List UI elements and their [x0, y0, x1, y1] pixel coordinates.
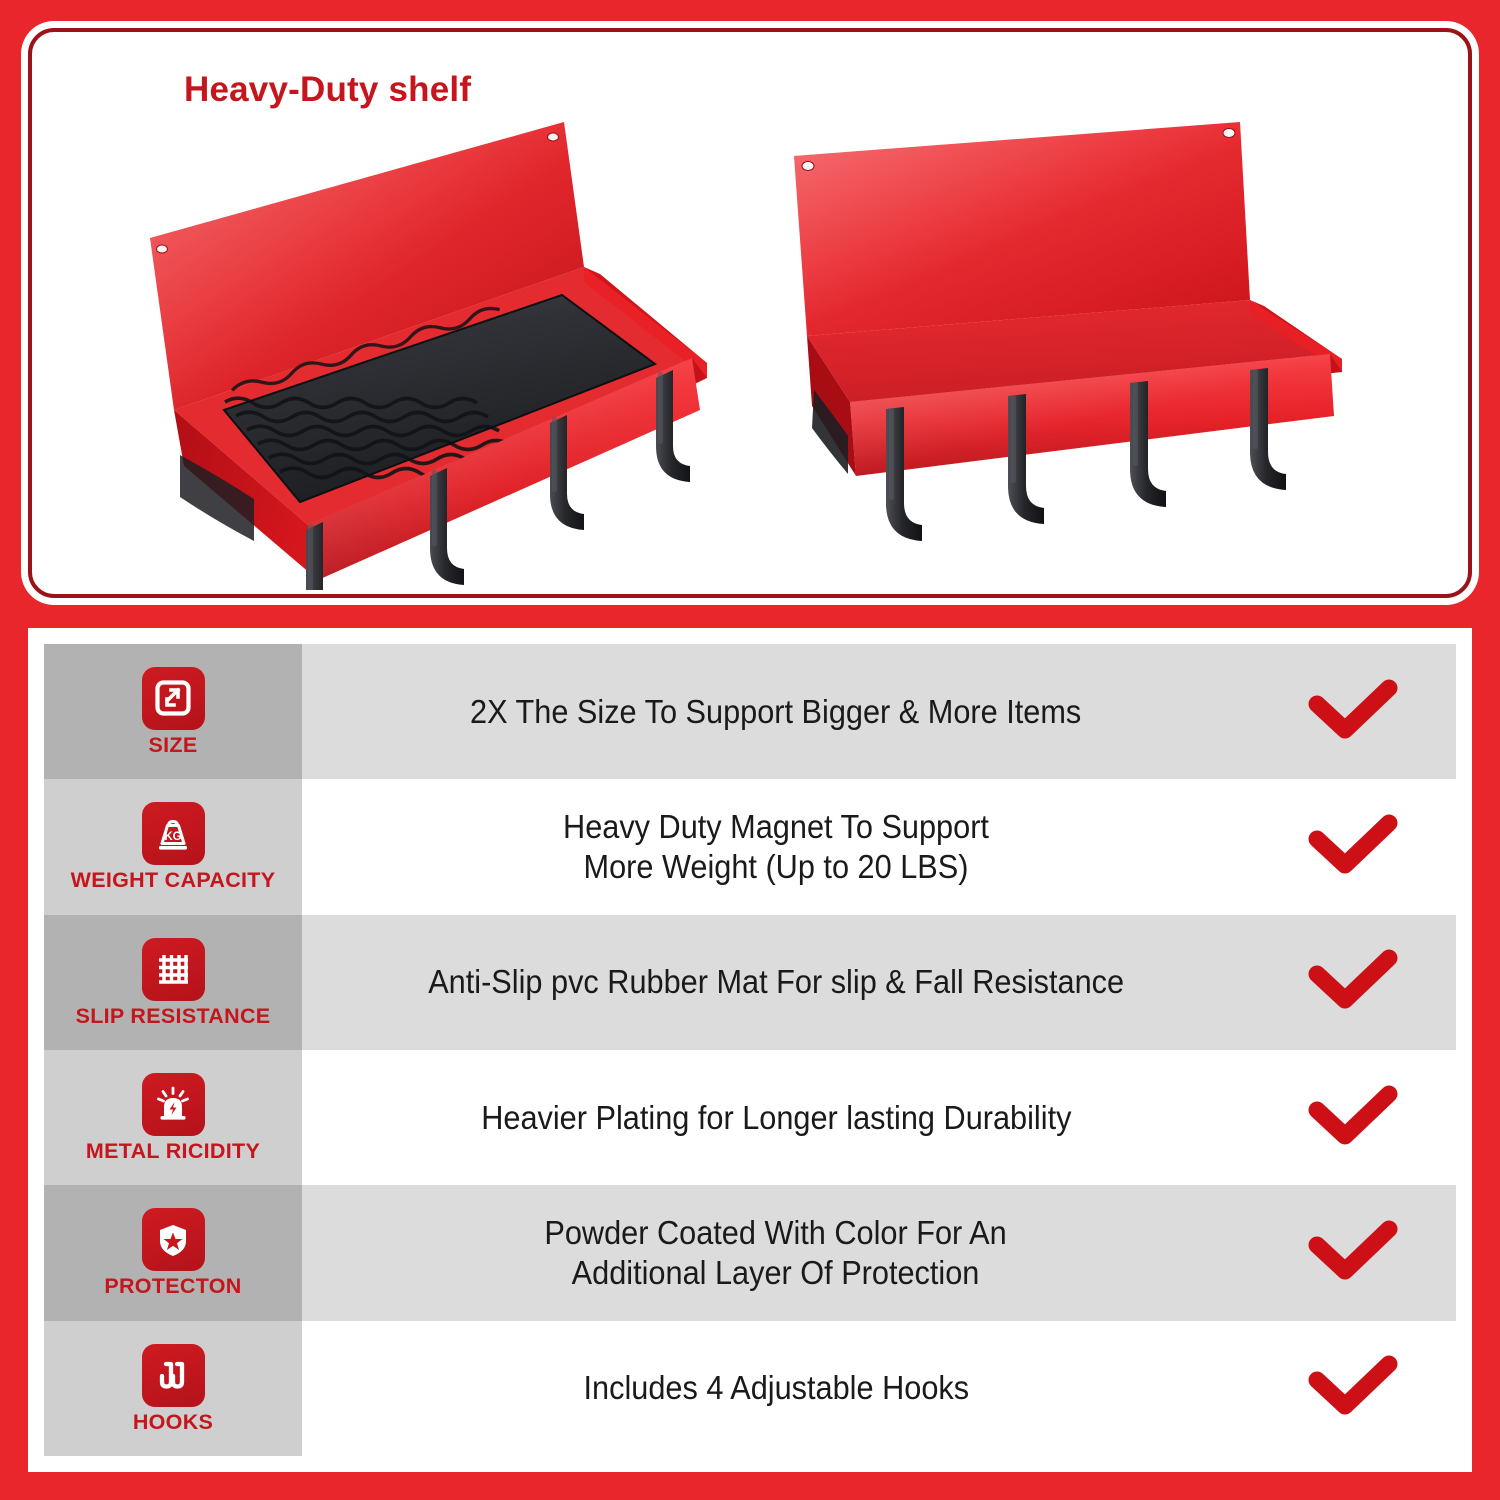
- table-row: SIZE 2X The Size To Support Bigger & Mor…: [44, 644, 1456, 779]
- feature-description-cell: 2X The Size To Support Bigger & More Ite…: [302, 644, 1250, 779]
- feature-icon-cell-slip-resistance: SLIP RESISTANCE: [44, 915, 302, 1050]
- table-row: SLIP RESISTANCE Anti-Slip pvc Rubber Mat…: [44, 915, 1456, 1050]
- table-row: HOOKS Includes 4 Adjustable Hooks: [44, 1321, 1456, 1456]
- feature-description-cell: Anti-Slip pvc Rubber Mat For slip & Fall…: [302, 915, 1250, 1050]
- hooks-icon: [142, 1344, 205, 1407]
- check-icon: [1305, 676, 1401, 748]
- shield-star-icon: [142, 1208, 205, 1271]
- feature-description: Anti-Slip pvc Rubber Mat For slip & Fall…: [428, 962, 1124, 1002]
- feature-table-panel: SIZE 2X The Size To Support Bigger & Mor…: [28, 628, 1472, 1472]
- check-icon: [1305, 1082, 1401, 1154]
- feature-check-cell: [1250, 779, 1456, 914]
- feature-description: 2X The Size To Support Bigger & More Ite…: [470, 692, 1081, 732]
- feature-description-cell: Heavy Duty Magnet To Support More Weight…: [302, 779, 1250, 914]
- feature-check-cell: [1250, 1185, 1456, 1320]
- feature-icon-label: METAL RICIDITY: [86, 1140, 260, 1163]
- check-icon: [1305, 1352, 1401, 1424]
- page-title: Heavy-Duty shelf: [184, 70, 471, 110]
- check-icon: [1305, 946, 1401, 1018]
- siren-bolt-icon: [142, 1073, 205, 1136]
- product-photo-panel: Heavy-Duty shelf: [28, 28, 1472, 598]
- feature-description-cell: Heavier Plating for Longer lasting Durab…: [302, 1050, 1250, 1185]
- feature-check-cell: [1250, 1321, 1456, 1456]
- feature-icon-cell-size: SIZE: [44, 644, 302, 779]
- feature-description: Heavier Plating for Longer lasting Durab…: [481, 1098, 1071, 1138]
- feature-description-cell: Includes 4 Adjustable Hooks: [302, 1321, 1250, 1456]
- table-row: METAL RICIDITY Heavier Plating for Longe…: [44, 1050, 1456, 1185]
- feature-description: Powder Coated With Color For An Addition…: [545, 1213, 1007, 1294]
- feature-icon-label: SIZE: [149, 734, 198, 757]
- feature-check-cell: [1250, 1050, 1456, 1185]
- shelf-front-empty-image: [772, 104, 1372, 544]
- feature-icon-label: SLIP RESISTANCE: [76, 1005, 271, 1028]
- feature-table: SIZE 2X The Size To Support Bigger & Mor…: [44, 644, 1456, 1456]
- feature-icon-label: WEIGHT CAPACITY: [71, 869, 276, 892]
- feature-icon-label: PROTECTON: [104, 1275, 241, 1298]
- feature-icon-cell-hooks: HOOKS: [44, 1321, 302, 1456]
- table-row: KG WEIGHT CAPACITY Heavy Duty Magnet To …: [44, 779, 1456, 914]
- svg-text:KG: KG: [164, 831, 181, 843]
- grid-mesh-icon: [142, 938, 205, 1001]
- feature-icon-cell-weight-capacity: KG WEIGHT CAPACITY: [44, 779, 302, 914]
- shelf-angled-with-mat-image: [132, 110, 752, 590]
- feature-description: Heavy Duty Magnet To Support More Weight…: [563, 807, 989, 888]
- weight-kg-icon: KG: [142, 802, 205, 865]
- feature-check-cell: [1250, 644, 1456, 779]
- feature-check-cell: [1250, 915, 1456, 1050]
- feature-icon-cell-metal-ricidity: METAL RICIDITY: [44, 1050, 302, 1185]
- size-icon: [142, 667, 205, 730]
- feature-icon-cell-protecton: PROTECTON: [44, 1185, 302, 1320]
- check-icon: [1305, 1217, 1401, 1289]
- feature-icon-label: HOOKS: [133, 1411, 213, 1434]
- table-row: PROTECTON Powder Coated With Color For A…: [44, 1185, 1456, 1320]
- check-icon: [1305, 811, 1401, 883]
- feature-description-cell: Powder Coated With Color For An Addition…: [302, 1185, 1250, 1320]
- infographic-page: Heavy-Duty shelf: [0, 0, 1500, 1500]
- feature-description: Includes 4 Adjustable Hooks: [583, 1368, 969, 1408]
